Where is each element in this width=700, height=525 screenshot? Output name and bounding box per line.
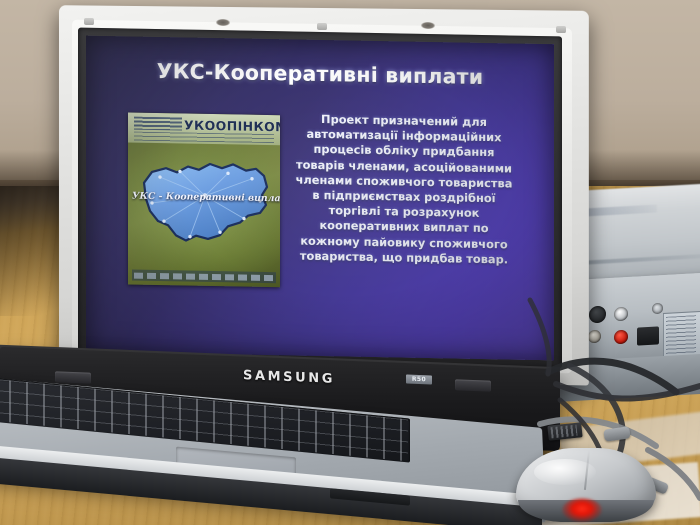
slide-body-text: Проект призначений для автоматизації інф… bbox=[291, 111, 517, 267]
slide-image-header-subtext bbox=[134, 117, 182, 131]
laptop: УКС-Кооперативні виплати УКООПІНКОМ bbox=[0, 0, 700, 525]
lid-latch-mid[interactable] bbox=[317, 23, 327, 30]
lid-latch-left[interactable] bbox=[84, 18, 94, 25]
lid-latch-right[interactable] bbox=[556, 26, 566, 33]
slide-image-brand: УКООПІНКОМ bbox=[184, 118, 280, 135]
slide-title: УКС-Кооперативні виплати bbox=[86, 58, 554, 91]
lid-screw-left bbox=[216, 19, 230, 26]
model-label: R50 bbox=[406, 374, 432, 384]
slide-image: УКООПІНКОМ bbox=[128, 112, 280, 287]
mouse-led-indicator bbox=[562, 498, 602, 522]
photo-scene: УКС-Кооперативні виплати УКООПІНКОМ bbox=[0, 0, 700, 525]
lid-screw-right bbox=[421, 22, 435, 29]
power-button[interactable] bbox=[55, 371, 91, 383]
laptop-screen[interactable]: УКС-Кооперативні виплати УКООПІНКОМ bbox=[86, 36, 554, 361]
quick-launch-button[interactable] bbox=[455, 379, 491, 391]
